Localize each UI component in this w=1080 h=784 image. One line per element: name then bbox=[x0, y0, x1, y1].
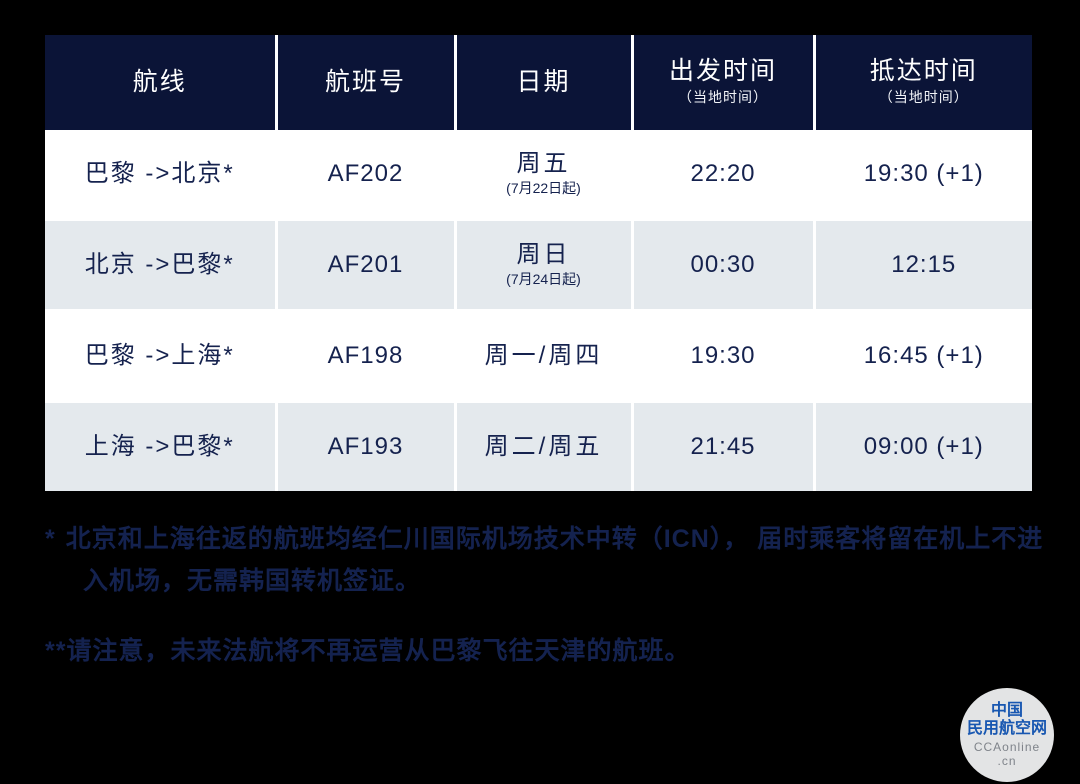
cell-route-text: 巴黎 ->北京* bbox=[45, 161, 275, 187]
cell-route-text: 巴黎 ->上海* bbox=[45, 343, 275, 369]
column-header-flight-number-label: 航班号 bbox=[278, 68, 454, 97]
cell-flight-number-text: AF201 bbox=[278, 252, 454, 278]
cell-route: 巴黎 ->北京* bbox=[45, 130, 276, 220]
cell-departure-time-text: 19:30 bbox=[634, 343, 813, 369]
cell-arrival-time: 19:30 (+1) bbox=[814, 130, 1032, 220]
cell-date-text: 周五 bbox=[457, 151, 631, 177]
cell-arrival-time: 12:15 bbox=[814, 220, 1032, 311]
column-header-route-label: 航线 bbox=[45, 68, 275, 97]
cell-date: 周二/周五 bbox=[455, 402, 632, 492]
cell-flight-number: AF193 bbox=[276, 402, 455, 492]
cell-date-text: 周二/周五 bbox=[457, 434, 631, 460]
column-header-date-label: 日期 bbox=[457, 68, 631, 97]
table-header-row: 航线 航班号 日期 出发时间 （当地时间） 抵达时间 （当地时间） bbox=[45, 35, 1032, 130]
column-header-flight-number: 航班号 bbox=[276, 35, 455, 130]
cell-departure-time-text: 00:30 bbox=[634, 252, 813, 278]
cell-flight-number: AF198 bbox=[276, 311, 455, 402]
table-row: 北京 ->巴黎* AF201 周日 (7月24日起) 00:30 12:15 bbox=[45, 220, 1032, 311]
column-header-arrival-time-sublabel: （当地时间） bbox=[816, 88, 1033, 108]
cell-arrival-time-text: 12:15 bbox=[816, 252, 1033, 278]
cell-date-subtext: (7月24日起) bbox=[457, 270, 631, 288]
flight-schedule-table: 航线 航班号 日期 出发时间 （当地时间） 抵达时间 （当地时间） 巴黎 ->北… bbox=[45, 35, 1032, 491]
column-header-arrival-time-label: 抵达时间 bbox=[816, 57, 1033, 86]
column-header-date: 日期 bbox=[455, 35, 632, 130]
cell-route-text: 北京 ->巴黎* bbox=[45, 252, 275, 278]
footnote-transit-text: 北京和上海往返的航班均经仁川国际机场技术中转（ICN）， 届时乘客将留在机上不进… bbox=[66, 525, 1044, 595]
column-header-departure-time-sublabel: （当地时间） bbox=[634, 88, 813, 108]
cell-arrival-time: 09:00 (+1) bbox=[814, 402, 1032, 492]
cell-departure-time: 21:45 bbox=[632, 402, 814, 492]
cell-departure-time-text: 21:45 bbox=[634, 434, 813, 460]
cell-departure-time-text: 22:20 bbox=[634, 161, 813, 187]
cell-route-text: 上海 ->巴黎* bbox=[45, 434, 275, 460]
column-header-departure-time: 出发时间 （当地时间） bbox=[632, 35, 814, 130]
footnote-transit: *北京和上海往返的航班均经仁川国际机场技术中转（ICN）， 届时乘客将留在机上不… bbox=[45, 518, 1068, 602]
column-header-arrival-time: 抵达时间 （当地时间） bbox=[814, 35, 1032, 130]
cell-flight-number-text: AF202 bbox=[278, 161, 454, 187]
cell-date-text: 周日 bbox=[457, 242, 631, 268]
cell-arrival-time: 16:45 (+1) bbox=[814, 311, 1032, 402]
table-body: 巴黎 ->北京* AF202 周五 (7月22日起) 22:20 19:30 (… bbox=[45, 130, 1032, 491]
watermark-line-2: 民用航空网 bbox=[967, 720, 1047, 738]
table-row: 巴黎 ->上海* AF198 周一/周四 19:30 16:45 (+1) bbox=[45, 311, 1032, 402]
cell-departure-time: 19:30 bbox=[632, 311, 814, 402]
cell-arrival-time-text: 19:30 (+1) bbox=[816, 161, 1033, 187]
ccaonline-watermark-logo: 中国 民用航空网 CCAonline .cn bbox=[960, 688, 1054, 782]
cell-flight-number: AF202 bbox=[276, 130, 455, 220]
cell-flight-number: AF201 bbox=[276, 220, 455, 311]
table-header: 航线 航班号 日期 出发时间 （当地时间） 抵达时间 （当地时间） bbox=[45, 35, 1032, 130]
cell-arrival-time-text: 09:00 (+1) bbox=[816, 434, 1033, 460]
cell-date-text: 周一/周四 bbox=[457, 343, 631, 369]
watermark-line-4: .cn bbox=[997, 755, 1016, 769]
cell-arrival-time-text: 16:45 (+1) bbox=[816, 343, 1033, 369]
cell-route: 北京 ->巴黎* bbox=[45, 220, 276, 311]
cell-departure-time: 22:20 bbox=[632, 130, 814, 220]
column-header-departure-time-label: 出发时间 bbox=[634, 57, 813, 86]
footnote-tianjin: **请注意，未来法航将不再运营从巴黎飞往天津的航班。 bbox=[45, 630, 1045, 672]
watermark-line-3: CCAonline bbox=[974, 741, 1040, 755]
cell-route: 上海 ->巴黎* bbox=[45, 402, 276, 492]
cell-date: 周日 (7月24日起) bbox=[455, 220, 632, 311]
cell-date: 周五 (7月22日起) bbox=[455, 130, 632, 220]
table-row: 巴黎 ->北京* AF202 周五 (7月22日起) 22:20 19:30 (… bbox=[45, 130, 1032, 220]
cell-date: 周一/周四 bbox=[455, 311, 632, 402]
column-header-route: 航线 bbox=[45, 35, 276, 130]
table-row: 上海 ->巴黎* AF193 周二/周五 21:45 09:00 (+1) bbox=[45, 402, 1032, 492]
footnote-transit-marker: * bbox=[45, 525, 56, 553]
watermark-line-1: 中国 bbox=[991, 702, 1023, 720]
footnotes: *北京和上海往返的航班均经仁川国际机场技术中转（ICN）， 届时乘客将留在机上不… bbox=[45, 518, 1045, 672]
cell-route: 巴黎 ->上海* bbox=[45, 311, 276, 402]
cell-flight-number-text: AF198 bbox=[278, 343, 454, 369]
cell-date-subtext: (7月22日起) bbox=[457, 179, 631, 197]
footnote-tianjin-text: **请注意，未来法航将不再运营从巴黎飞往天津的航班。 bbox=[45, 637, 690, 665]
cell-flight-number-text: AF193 bbox=[278, 434, 454, 460]
cell-departure-time: 00:30 bbox=[632, 220, 814, 311]
